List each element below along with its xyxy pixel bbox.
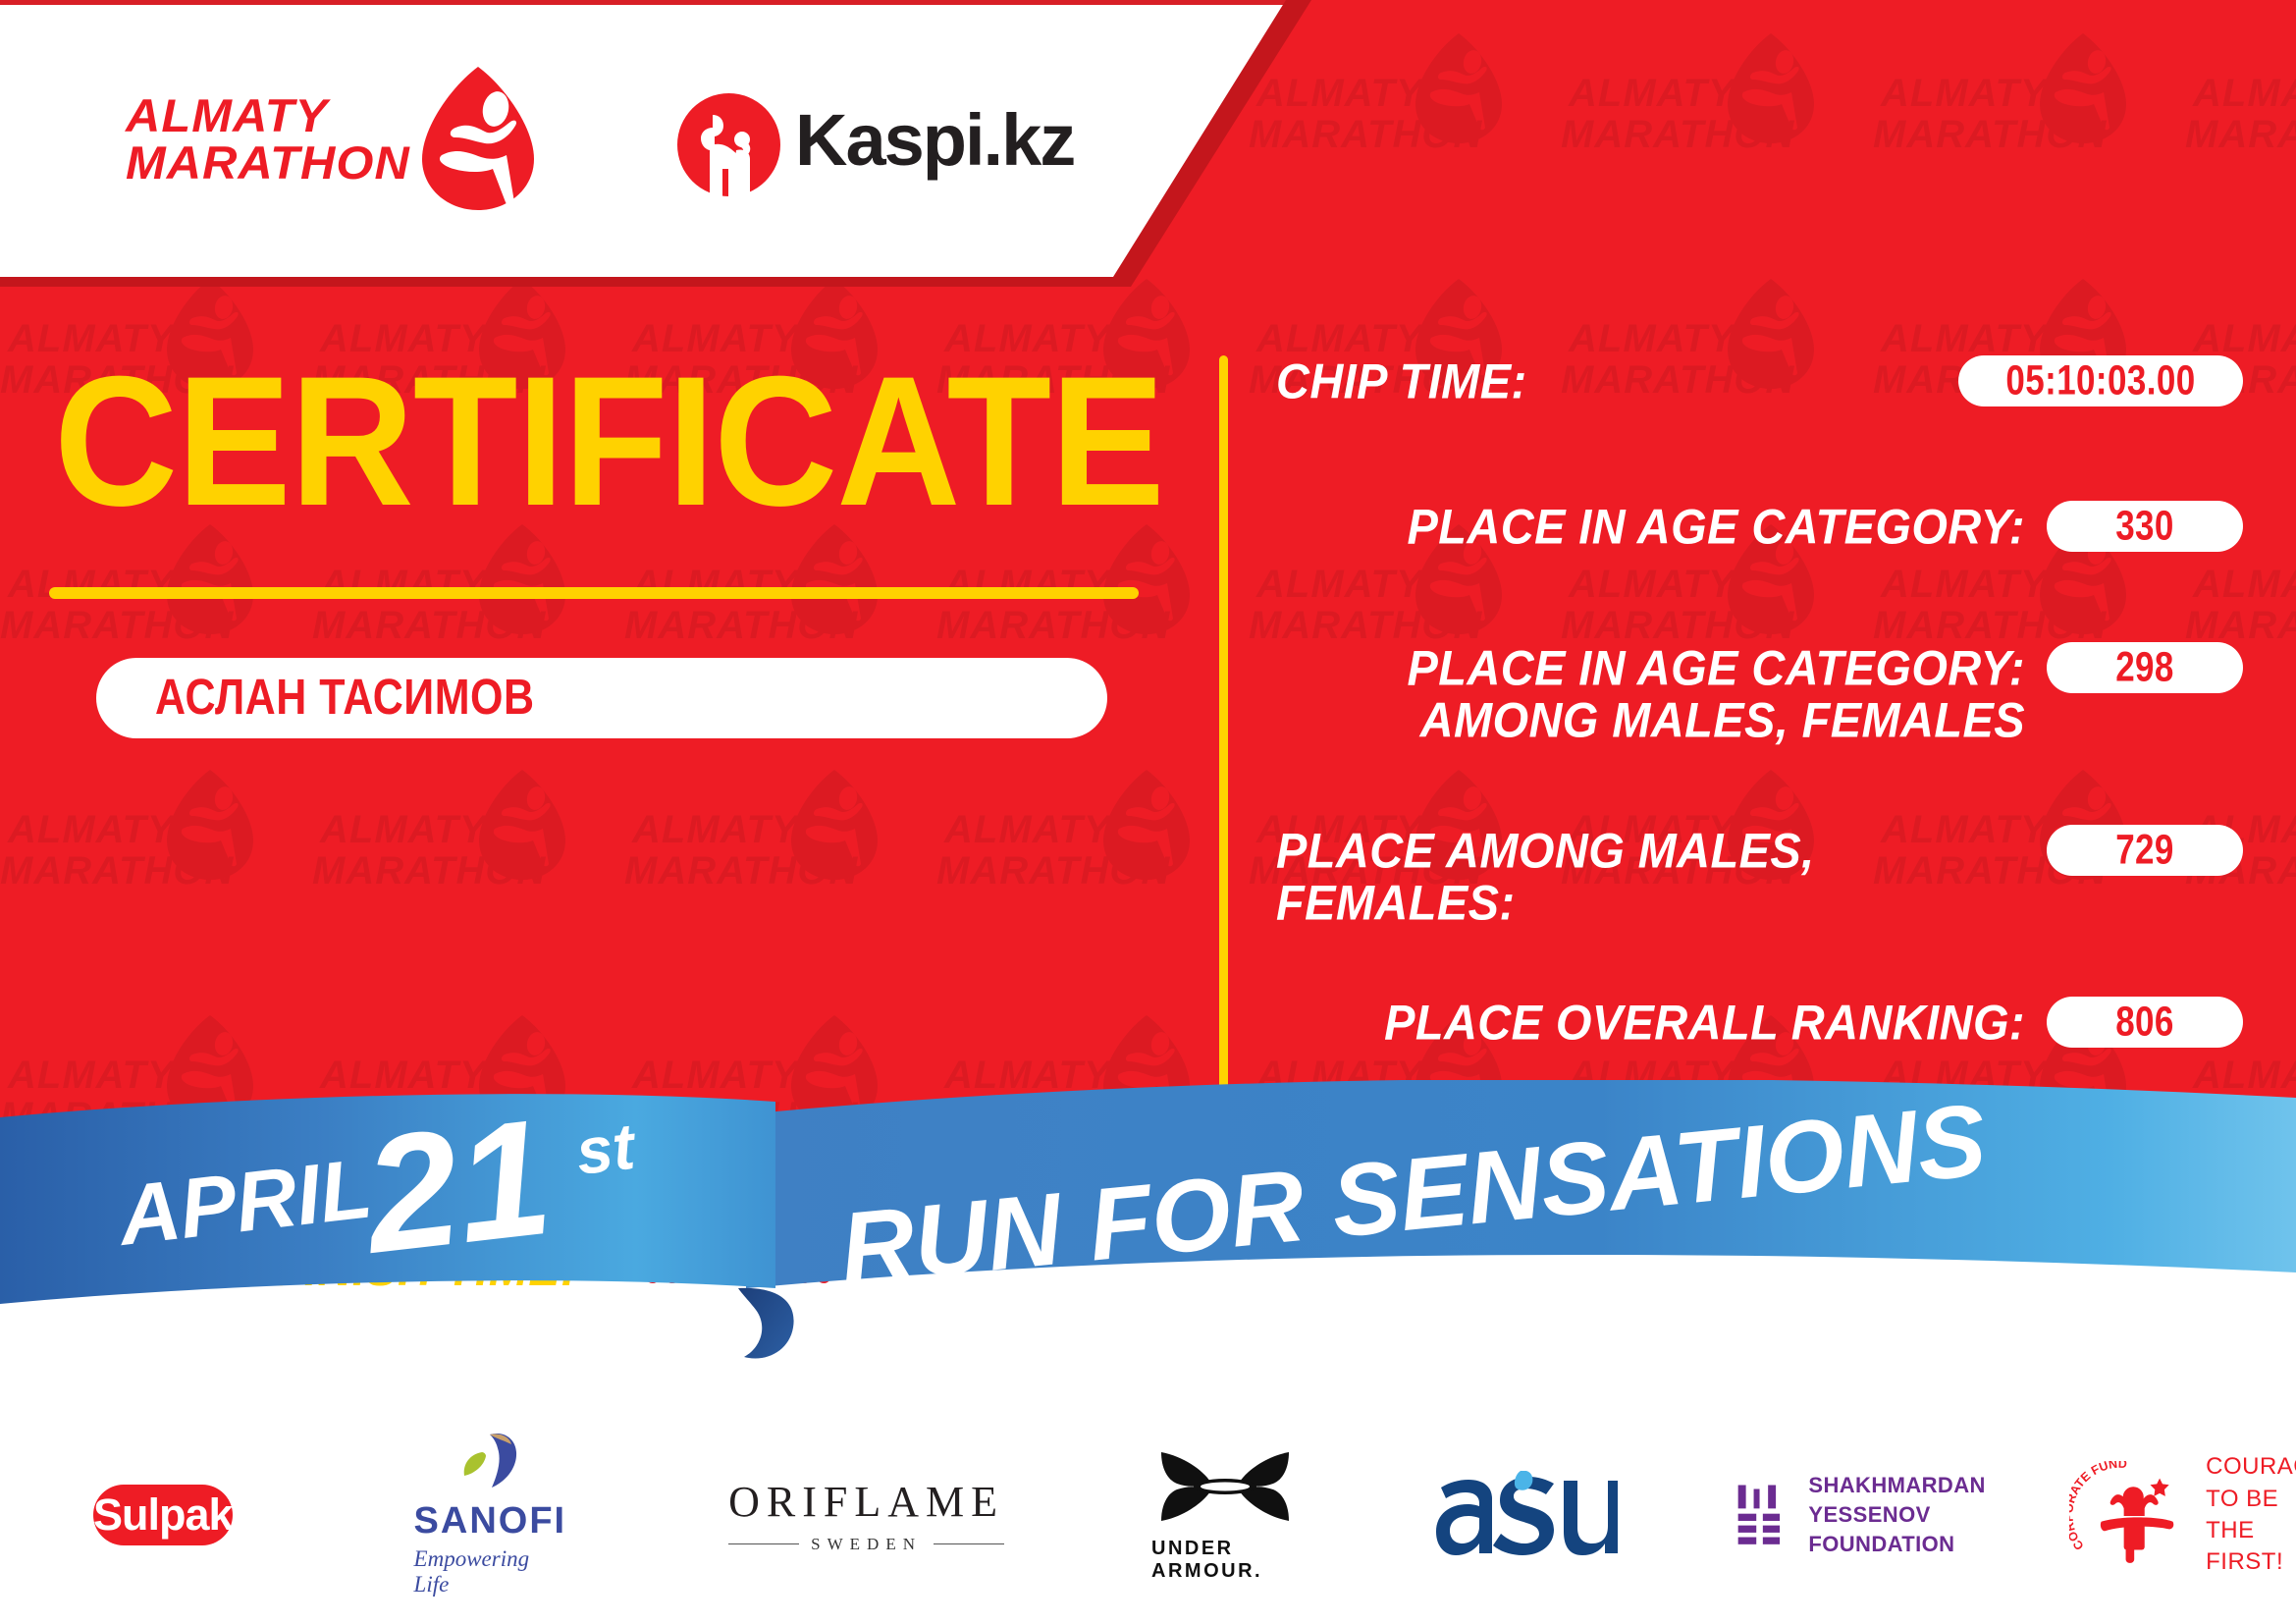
place-age-mf-label: PLACE IN AGE CATEGORY:AMONG MALES, FEMAL… [1276, 642, 2025, 746]
almaty-marathon-wordmark: ALMATY MARATHON [126, 92, 410, 187]
place-mf-label: PLACE AMONG MALES,FEMALES: [1276, 825, 2025, 929]
chip-time-label: CHIP TIME: [1276, 355, 1937, 407]
ribbon-fold [738, 1288, 794, 1359]
sanofi-tagline: Empowering Life [414, 1546, 567, 1597]
column-divider [1219, 355, 1228, 1102]
athlete-name-value: АСЛАН ТАСИМОВ [155, 670, 535, 727]
place-mf-value-pill: 729 [2047, 825, 2243, 876]
page-title: CERTIFICATE [54, 349, 1164, 533]
place-overall-value: 806 [2115, 999, 2174, 1047]
oriflame-rule-left [728, 1543, 799, 1545]
shakhmardan-line1: SHAKHMARDAN YESSENOV [1808, 1471, 2010, 1529]
place-age-value: 330 [2115, 503, 2174, 551]
oriflame-sub: SWEDEN [728, 1535, 1004, 1554]
kaspi-family-circle-icon [677, 93, 780, 201]
result-row-place-age-mf: PLACE IN AGE CATEGORY:AMONG MALES, FEMAL… [1276, 642, 2243, 740]
place-overall-value-pill: 806 [2047, 997, 2243, 1048]
courage-wordmark: COURAGE TO BE THE FIRST! [2206, 1451, 2296, 1579]
oriflame-wordmark: ORIFLAME [728, 1477, 1004, 1527]
sponsor-sulpak: Sulpak [93, 1485, 233, 1545]
result-row-chip-time: CHIP TIME: 05:10:03.00 [1276, 355, 2243, 406]
sponsor-sanofi: SANOFI Empowering Life [414, 1433, 567, 1597]
kaspi-logo: Kaspi.kz [677, 93, 1090, 201]
shakhmardan-line2: FOUNDATION [1808, 1530, 2010, 1559]
runner-drop-icon [420, 65, 536, 217]
under-armour-wordmark: UNDER ARMOUR. [1151, 1538, 1299, 1583]
event-ribbon: APRIL 21 st RUN FOR SENSATIONS [0, 1080, 2296, 1404]
corporate-fund-icon: CORPORATE FUND [2069, 1461, 2192, 1569]
sanofi-wordmark: SANOFI [414, 1500, 567, 1543]
kaspi-wordmark: Kaspi.kz [795, 98, 1074, 182]
result-row-place-age: PLACE IN AGE CATEGORY: 330 [1276, 501, 2243, 552]
sponsor-oriflame: ORIFLAME SWEDEN [728, 1477, 1004, 1554]
header: ALMATY MARATHON [0, 0, 1227, 287]
place-overall-label: PLACE OVERALL RANKING: [1276, 997, 2025, 1049]
asu-wordmark-icon [1436, 1471, 1618, 1559]
place-mf-value: 729 [2115, 827, 2174, 875]
result-row-place-mf: PLACE AMONG MALES,FEMALES: 729 [1276, 825, 2243, 923]
courage-line3: THE FIRST! [2206, 1515, 2296, 1579]
almaty-marathon-logo: ALMATY MARATHON [126, 65, 450, 212]
certificate-canvas: ALMATY MARATHON [0, 0, 2296, 1624]
under-armour-icon [1151, 1448, 1299, 1530]
place-age-mf-value: 298 [2115, 644, 2174, 692]
place-age-value-pill: 330 [2047, 501, 2243, 552]
yessenov-foundation-icon [1735, 1470, 1785, 1560]
oriflame-tagline: SWEDEN [811, 1535, 922, 1554]
marathon-line: MARATHON [126, 139, 410, 187]
sanofi-mark-icon [454, 1433, 525, 1496]
courage-line2: TO BE [2206, 1484, 2296, 1515]
sponsor-bar: Sulpak SANOFI Empowering Life ORIFLAME S… [0, 1406, 2296, 1624]
athlete-name-field: АСЛАН ТАСИМОВ [96, 658, 1107, 738]
chip-time-value: 05:10:03.00 [2005, 357, 2195, 406]
title-underline [49, 587, 1139, 599]
shakhmardan-wordmark: SHAKHMARDAN YESSENOV FOUNDATION [1808, 1471, 2010, 1558]
courage-line1: COURAGE [2206, 1451, 2296, 1483]
sponsor-under-armour: UNDER ARMOUR. [1151, 1448, 1299, 1583]
place-age-mf-value-pill: 298 [2047, 642, 2243, 693]
svg-text:CORPORATE FUND: CORPORATE FUND [2069, 1461, 2127, 1552]
oriflame-rule-right [934, 1543, 1004, 1545]
chip-time-value-pill: 05:10:03.00 [1958, 355, 2243, 406]
place-age-label: PLACE IN AGE CATEGORY: [1276, 501, 2025, 553]
result-row-place-overall: PLACE OVERALL RANKING: 806 [1276, 997, 2243, 1048]
sponsor-asu [1436, 1471, 1618, 1559]
sponsor-shakhmardan-yessenov: SHAKHMARDAN YESSENOV FOUNDATION [1735, 1470, 2010, 1560]
sponsor-courage-to-be-the-first: CORPORATE FUND COURAGE TO BE THE FIRST! [2069, 1451, 2296, 1579]
ribbon-day: 21 [353, 1084, 560, 1288]
sulpak-wordmark: Sulpak [93, 1489, 233, 1541]
ribbon-day-suffix: st [572, 1109, 641, 1188]
almaty-line: ALMATY [126, 92, 410, 139]
